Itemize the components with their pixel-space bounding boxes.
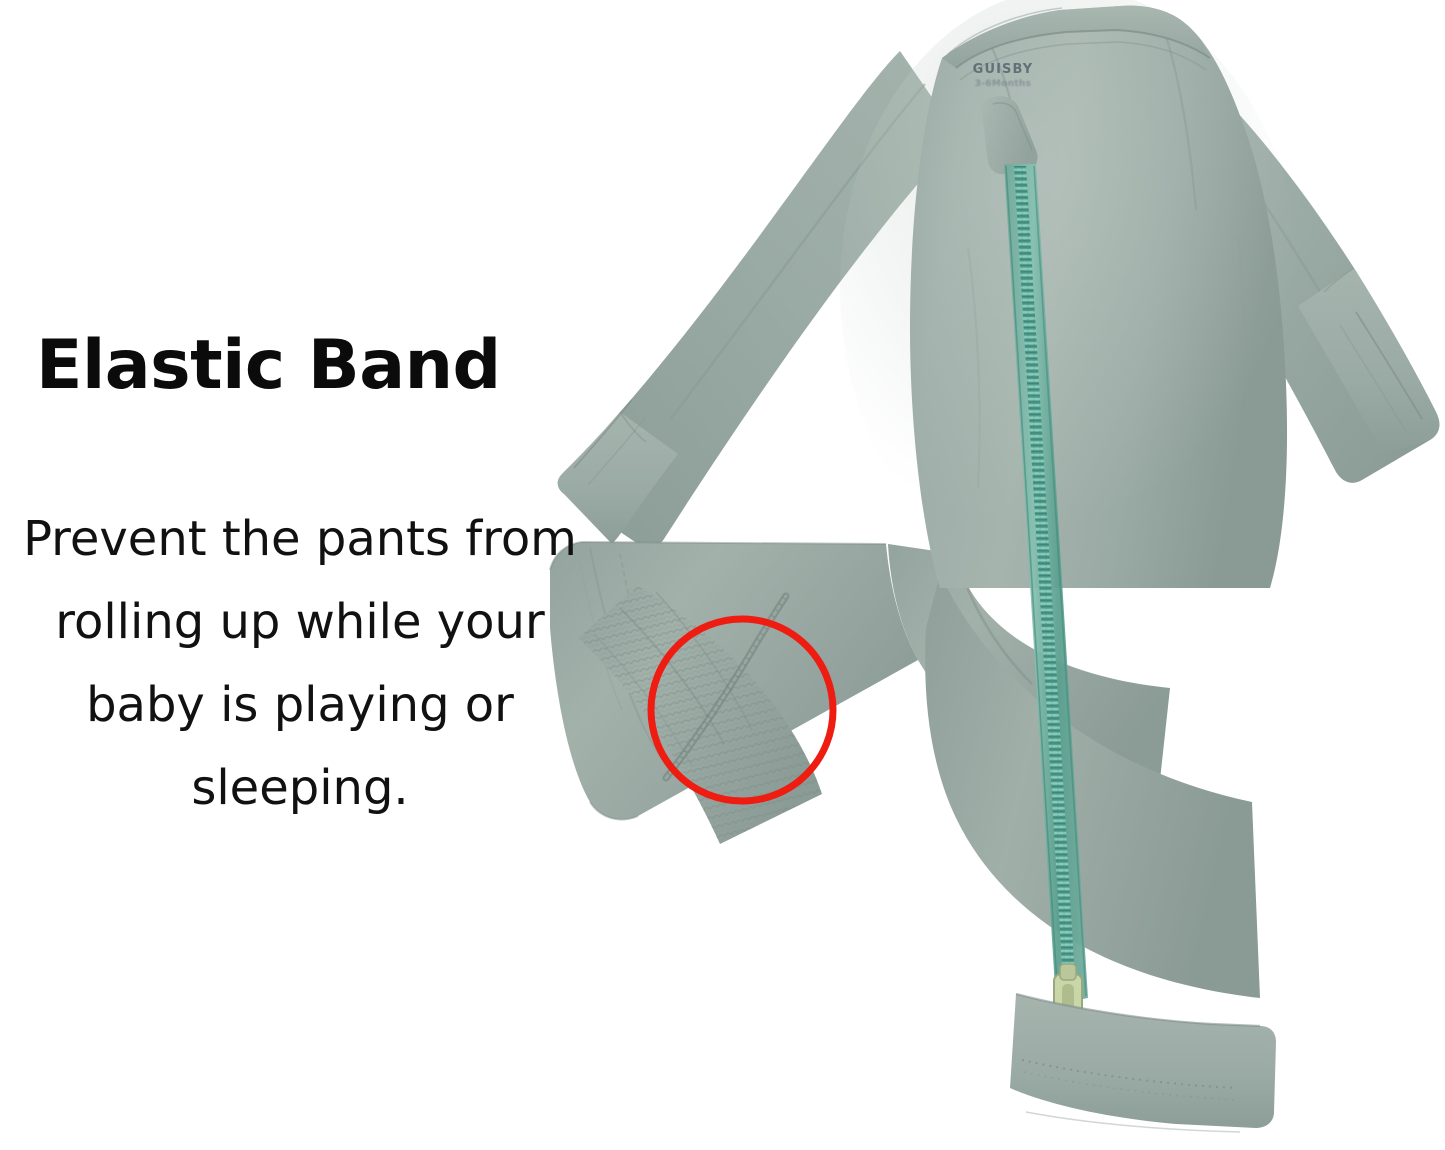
brand-neck-label: GUISBY 3-6Months [963, 62, 1043, 89]
garment-size: 3-6Months [963, 79, 1043, 89]
feature-description: Prevent the pants from rolling up while … [0, 498, 600, 830]
text-panel: Elastic Band Prevent the pants from roll… [0, 0, 600, 1150]
brand-name: GUISBY [963, 62, 1043, 77]
page-title: Elastic Band [36, 327, 501, 405]
bottom-hem-cuff [1010, 994, 1276, 1132]
romper-body [840, 0, 1300, 588]
product-photo [470, 0, 1445, 1150]
